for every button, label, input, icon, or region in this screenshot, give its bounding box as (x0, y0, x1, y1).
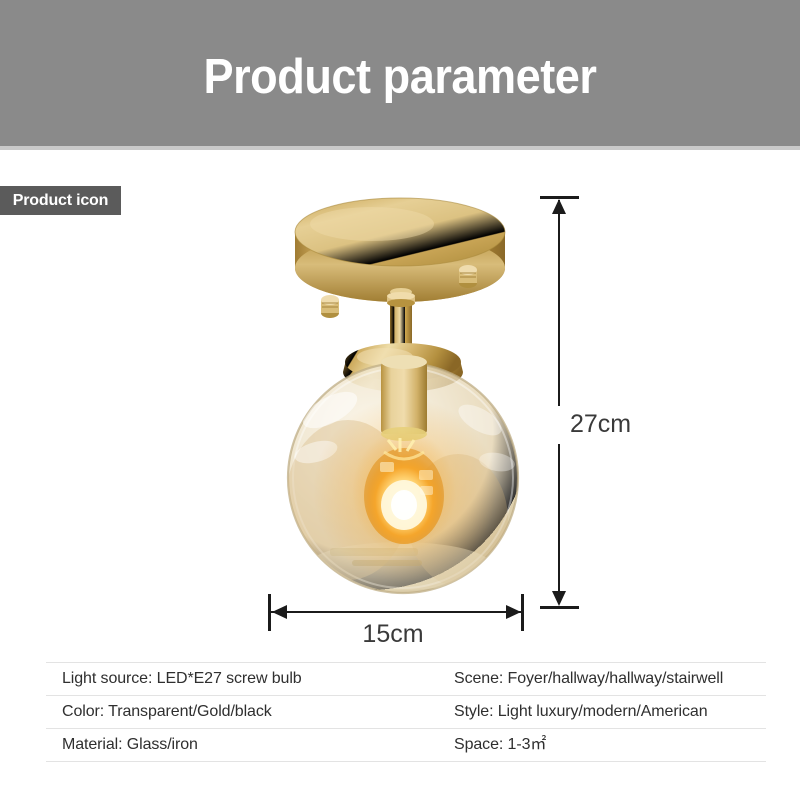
spec-material: Material: Glass/iron (46, 729, 446, 761)
height-dimension-line (558, 200, 560, 604)
table-row: Color: Transparent/Gold/black Style: Lig… (46, 695, 766, 728)
height-dimension-arrow-down-icon (552, 591, 566, 606)
spec-color: Color: Transparent/Gold/black (46, 696, 446, 728)
table-row: Light source: LED*E27 screw bulb Scene: … (46, 662, 766, 695)
spec-space: Space: 1-3㎡ (446, 729, 766, 761)
product-parameter-page: Product parameter Product icon (0, 0, 800, 800)
lamp-bulb-glow (352, 430, 456, 554)
spec-scene: Scene: Foyer/hallway/hallway/stairwell (446, 663, 766, 695)
specification-table: Light source: LED*E27 screw bulb Scene: … (46, 662, 766, 762)
width-dimension-label: 15cm (0, 620, 790, 649)
page-title: Product parameter (32, 44, 768, 110)
table-row: Material: Glass/iron Space: 1-3㎡ (46, 728, 766, 762)
spec-style: Style: Light luxury/modern/American (446, 696, 766, 728)
lamp-stem (387, 288, 415, 354)
lamp-collar (343, 343, 463, 392)
width-dimension-arrow-right-icon (506, 605, 521, 619)
header-underline-divider (0, 146, 800, 150)
spec-light-source: Light source: LED*E27 screw bulb (46, 663, 446, 695)
canopy-screw-right (459, 265, 477, 288)
height-dimension-line-gap (552, 406, 566, 444)
lamp-bulb-socket (381, 355, 427, 441)
height-dimension-label: 27cm (570, 410, 631, 439)
width-dimension-label-text: 15cm (362, 620, 423, 649)
width-dimension-arrow-left-icon (272, 605, 287, 619)
canopy-screw-left (321, 295, 339, 318)
product-icon-badge: Product icon (0, 186, 121, 215)
height-dimension-cap-bottom (540, 606, 579, 609)
height-dimension-arrow-up-icon (552, 199, 566, 214)
lamp-glass-globe (286, 363, 518, 593)
width-dimension-line (270, 611, 522, 613)
lamp-canopy (295, 198, 505, 302)
